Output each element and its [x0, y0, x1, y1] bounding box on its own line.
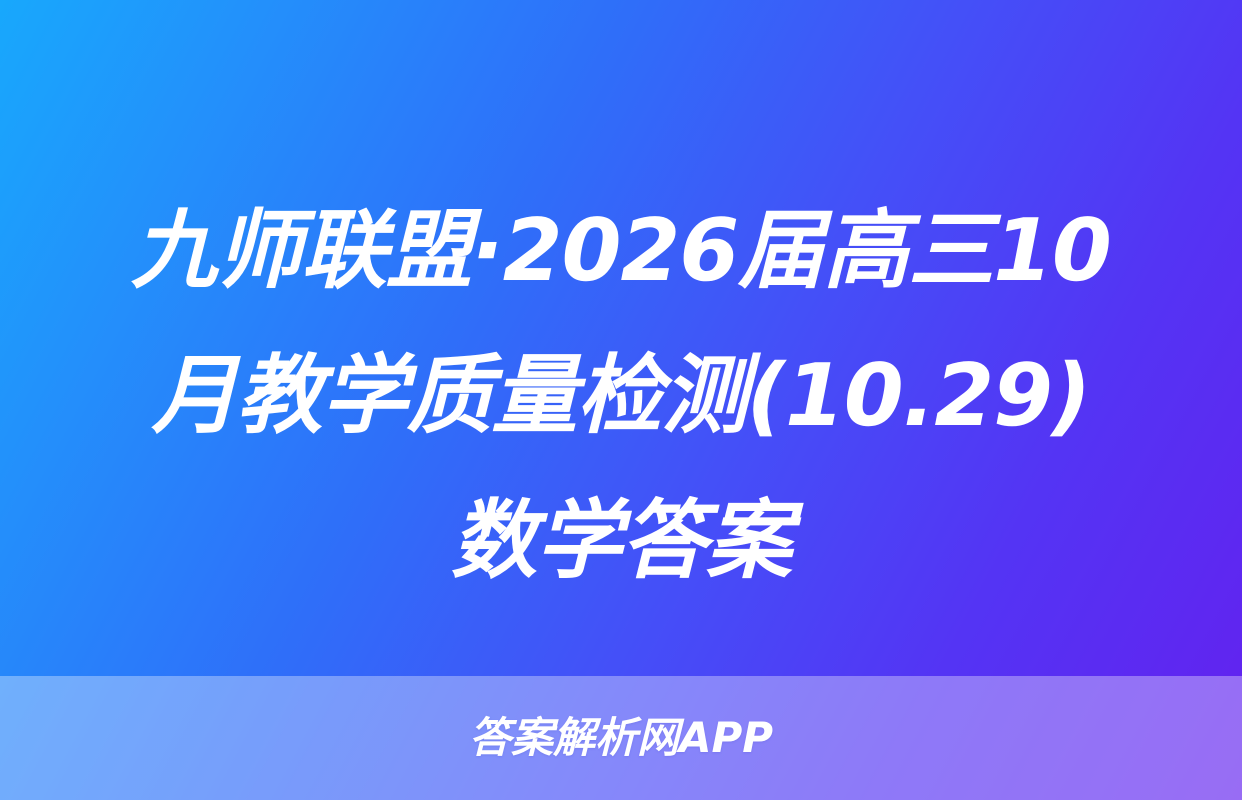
- headline-line-3: 数学答案: [78, 469, 1164, 614]
- headline-line-1: 九师联盟·2026届高三10: [78, 179, 1164, 324]
- footer-band: 答案解析网APP: [0, 676, 1242, 800]
- app-watermark: 答案解析网APP: [469, 715, 773, 761]
- promo-card: 九师联盟·2026届高三10 月教学质量检测(10.29) 数学答案 答案解析网…: [0, 0, 1242, 800]
- headline-line-2: 月教学质量检测(10.29): [78, 324, 1164, 469]
- headline-block: 九师联盟·2026届高三10 月教学质量检测(10.29) 数学答案: [0, 176, 1242, 616]
